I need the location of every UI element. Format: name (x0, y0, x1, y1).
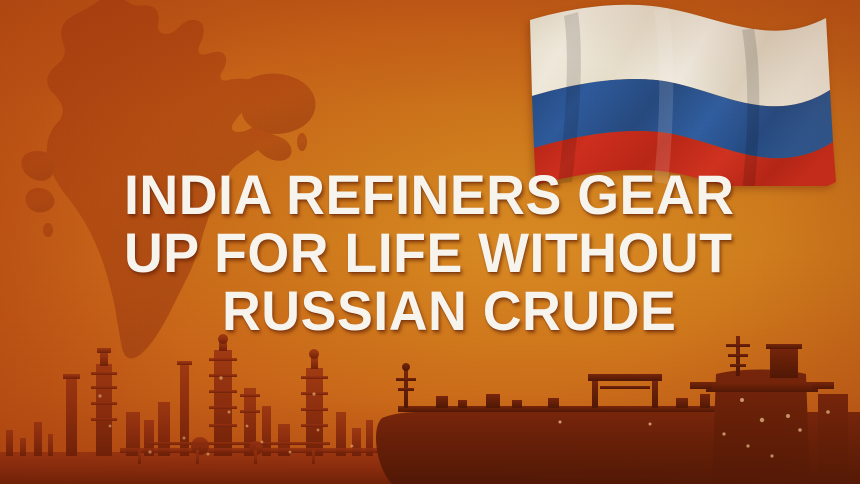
oil-tanker-group (376, 336, 860, 484)
russian-flag (518, 0, 838, 186)
industrial-skyline-silhouette (0, 334, 860, 484)
headline-line-3: RUSSIAN CRUDE (222, 282, 834, 340)
headline-line-1: INDIA REFINERS GEAR (124, 166, 831, 224)
headline-line-2: UP FOR LIFE WITHOUT (124, 224, 831, 282)
news-thumbnail-image: INDIA REFINERS GEAR UP FOR LIFE WITHOUT … (0, 0, 860, 484)
headline-block: INDIA REFINERS GEAR UP FOR LIFE WITHOUT … (0, 166, 860, 340)
